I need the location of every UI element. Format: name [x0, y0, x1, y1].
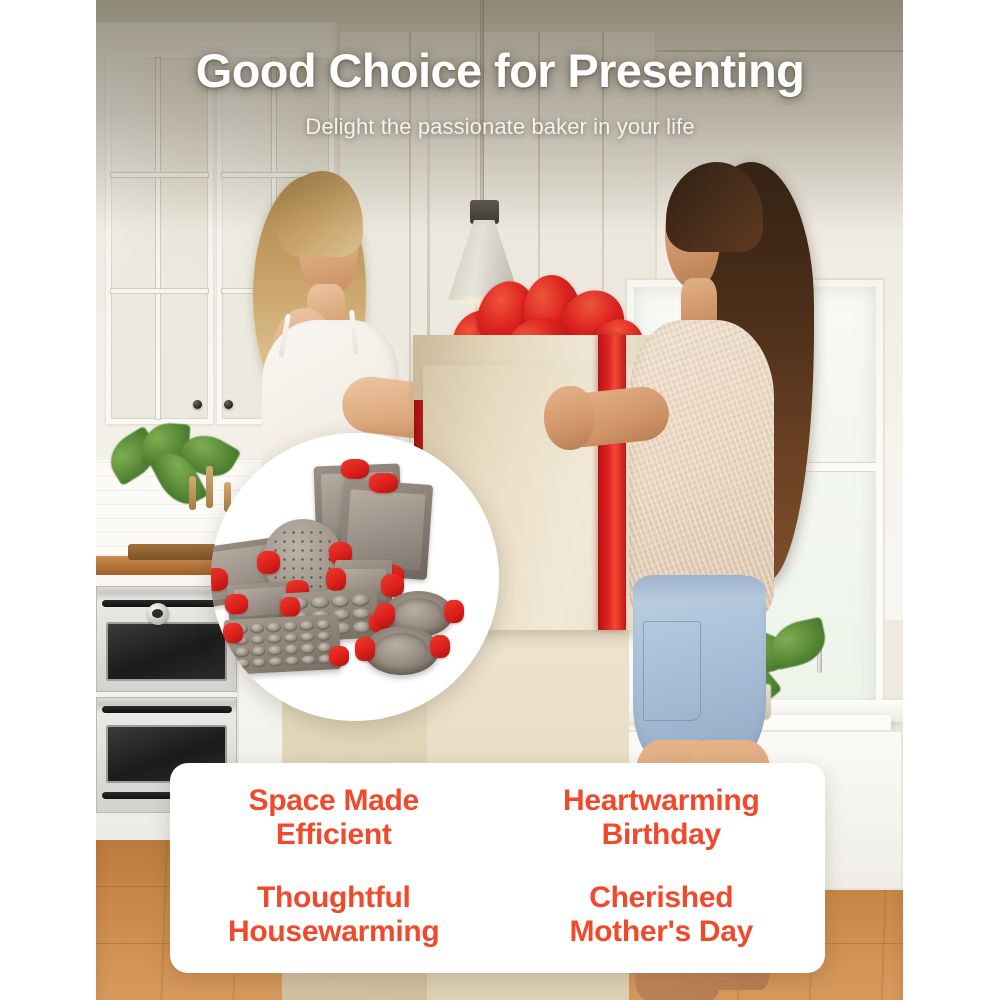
mini-muffin-cup: [252, 658, 267, 668]
mini-muffin-cups: [234, 620, 333, 669]
silicone-grip: [444, 600, 464, 623]
mini-muffin-cup: [300, 633, 315, 643]
benefit-thoughtful-housewarming: Thoughtful Housewarming: [228, 881, 439, 948]
benefit-space-made-efficient: Space Made Efficient: [249, 784, 419, 851]
mini-muffin-cup: [268, 657, 283, 667]
muffin-cup: [310, 596, 329, 609]
silicone-grip: [280, 597, 300, 617]
mini-muffin-cup: [300, 644, 315, 654]
muffin-cup: [351, 594, 370, 607]
mini-muffin-cup: [235, 647, 250, 657]
mini-muffin-cup: [285, 656, 300, 666]
silicone-grip: [369, 473, 398, 493]
silicone-grip: [326, 568, 346, 591]
silicone-grip: [375, 603, 395, 626]
mini-muffin-cup: [268, 646, 283, 656]
mini-muffin-cup: [299, 621, 314, 631]
mini-muffin-cup: [316, 632, 331, 642]
mini-muffin-cup: [235, 659, 250, 669]
mini-muffin-cup: [266, 623, 281, 633]
wooden-utensil: [189, 476, 196, 510]
mullion-horizontal: [111, 289, 208, 293]
mini-muffin-pan-24-cup: [224, 614, 342, 675]
benefit-heartwarming-birthday: Heartwarming Birthday: [563, 784, 759, 851]
benefit-cherished-mothers-day: Cherished Mother's Day: [569, 881, 753, 948]
bakeware-set: [211, 433, 499, 721]
page-subtitle: Delight the passionate baker in your lif…: [0, 114, 1000, 140]
mini-muffin-cup: [250, 624, 265, 634]
woman-right-hand: [544, 386, 594, 450]
mini-muffin-cup: [267, 634, 282, 644]
headline-block: Good Choice for Presenting Delight the p…: [0, 46, 1000, 140]
oven-dial: [147, 603, 169, 625]
denim-pocket: [643, 621, 701, 722]
mini-muffin-cup: [316, 620, 331, 630]
silicone-grip: [225, 594, 248, 614]
silicone-grip: [257, 551, 280, 574]
silicone-grip: [430, 635, 450, 658]
muffin-cup: [330, 595, 349, 608]
benefits-card: Space Made Efficient Heartwarming Birthd…: [170, 763, 825, 973]
mini-muffin-cup: [283, 622, 298, 632]
woman-right-denim-shorts: [633, 575, 766, 765]
silicone-grip: [341, 459, 370, 479]
mini-muffin-cup: [283, 633, 298, 643]
mini-muffin-cup: [251, 647, 266, 657]
mini-muffin-cup: [284, 645, 299, 655]
silicone-grip: [223, 623, 243, 643]
silicone-grip: [329, 646, 349, 666]
denim-waistband: [633, 575, 766, 600]
pan-surface: [345, 489, 425, 570]
marketing-banner: Good Choice for Presenting Delight the p…: [0, 0, 1000, 1000]
gift-ribbon-vertical: [598, 335, 626, 630]
mini-muffin-cup: [301, 655, 316, 665]
plant-leaf: [767, 616, 829, 670]
page-title: Good Choice for Presenting: [0, 46, 1000, 96]
mini-muffin-cup: [251, 635, 266, 645]
oven-window: [106, 622, 227, 681]
silicone-grip: [355, 637, 375, 660]
product-inset-circle: [211, 433, 499, 721]
muffin-cup: [352, 608, 371, 621]
